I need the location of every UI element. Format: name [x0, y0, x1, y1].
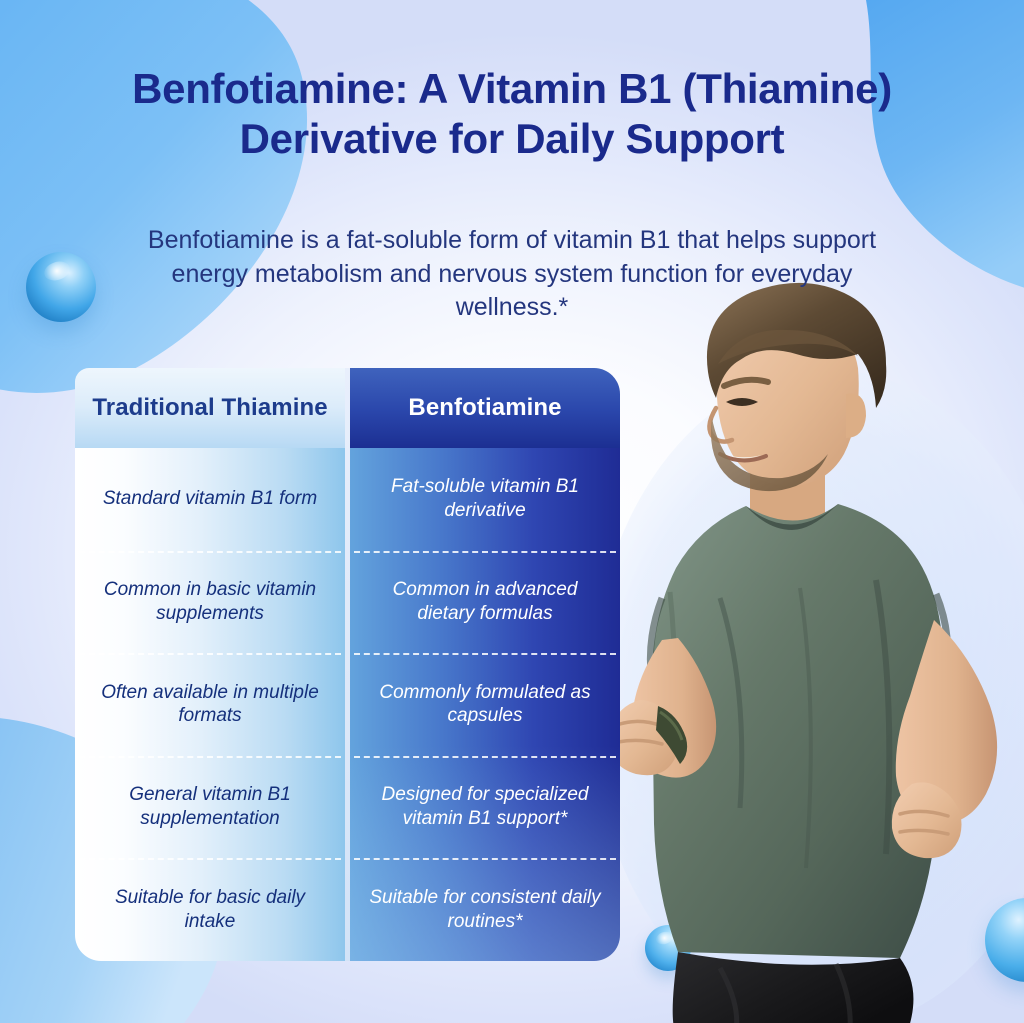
table-cell: Often available in multiple formats: [75, 653, 345, 756]
table-cell: Common in advanced dietary formulas: [350, 551, 620, 654]
comparison-column-traditional: Traditional Thiamine Standard vitamin B1…: [75, 368, 345, 961]
column-header-benfotiamine: Benfotiamine: [350, 368, 620, 448]
infographic-canvas: Benfotiamine: A Vitamin B1 (Thiamine) De…: [0, 0, 1024, 1023]
runner-shorts: [673, 952, 914, 1023]
comparison-table: Traditional Thiamine Standard vitamin B1…: [75, 368, 620, 961]
runner-photo: [600, 268, 1024, 1023]
comparison-column-benfotiamine: Benfotiamine Fat-soluble vitamin B1 deri…: [350, 368, 620, 961]
page-title: Benfotiamine: A Vitamin B1 (Thiamine) De…: [50, 64, 974, 163]
table-cell: Standard vitamin B1 form: [75, 448, 345, 551]
table-cell: Commonly formulated as capsules: [350, 653, 620, 756]
table-cell: General vitamin B1 supplementation: [75, 756, 345, 859]
table-cell: Suitable for basic daily intake: [75, 858, 345, 961]
column-body-benfotiamine: Fat-soluble vitamin B1 derivative Common…: [350, 448, 620, 961]
page-subtitle: Benfotiamine is a fat-soluble form of vi…: [118, 224, 906, 325]
table-cell: Designed for specialized vitamin B1 supp…: [350, 756, 620, 859]
page-title-line-2: Derivative for Daily Support: [240, 115, 785, 162]
column-body-traditional: Standard vitamin B1 form Common in basic…: [75, 448, 345, 961]
column-header-traditional: Traditional Thiamine: [75, 368, 345, 448]
table-cell: Common in basic vitamin supplements: [75, 551, 345, 654]
table-cell: Fat-soluble vitamin B1 derivative: [350, 448, 620, 551]
table-cell: Suitable for consistent daily routines*: [350, 858, 620, 961]
blob-top-left-shape: [0, 0, 307, 393]
page-title-line-1: Benfotiamine: A Vitamin B1 (Thiamine): [132, 65, 892, 112]
